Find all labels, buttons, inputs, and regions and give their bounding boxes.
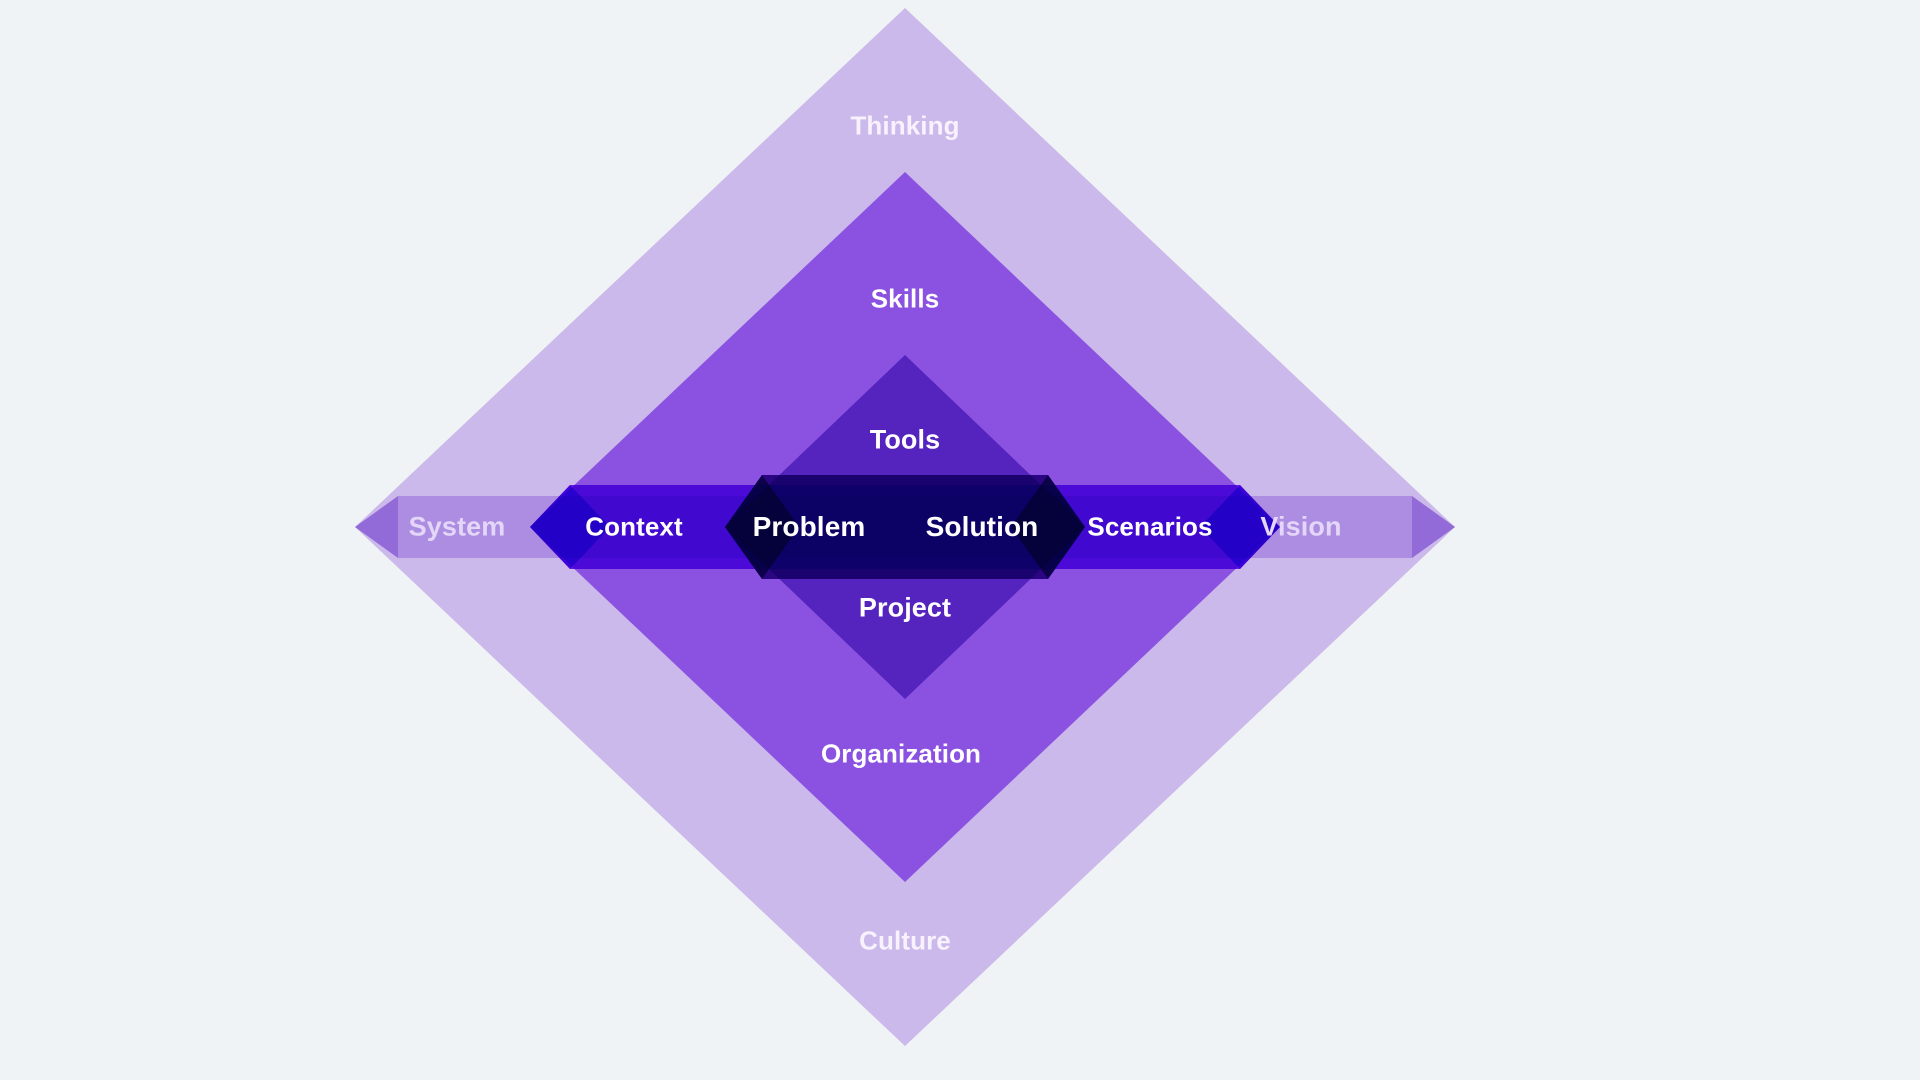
shape-vision-arrow-tip xyxy=(1412,496,1455,558)
shape-system-arrow-tip xyxy=(355,496,398,558)
diagram-graphic xyxy=(0,0,1920,1080)
diagram-canvas: Thinking Skills Tools Project Organizati… xyxy=(0,0,1920,1080)
